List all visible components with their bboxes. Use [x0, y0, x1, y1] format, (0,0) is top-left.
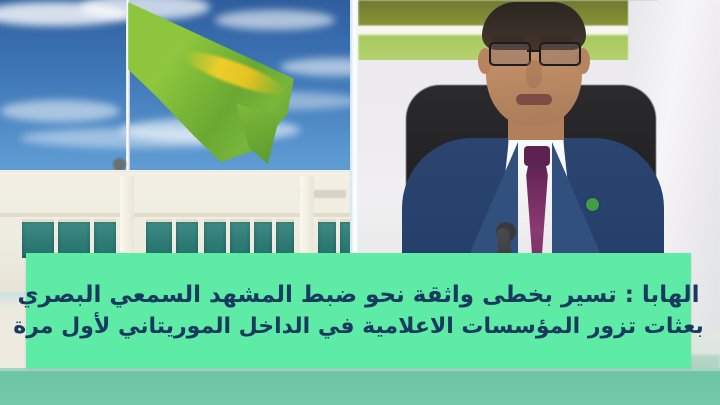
building-pilaster [120, 176, 134, 258]
eyeglass-lens-left [489, 42, 531, 66]
headline-line-1: الهابا : تسير بخطى واثقة نحو ضبط المشهد … [17, 280, 699, 310]
mouth [516, 94, 552, 105]
lapel-flag-pin [586, 198, 599, 211]
necktie-knot [524, 146, 550, 166]
headline-banner: الهابا : تسير بخطى واثقة نحو ضبط المشهد … [26, 253, 691, 368]
bottom-green-fill [0, 368, 720, 405]
eyeglasses [489, 42, 579, 62]
eyebrow-right [540, 36, 572, 41]
cloud-shape [280, 58, 354, 76]
nose [526, 60, 542, 88]
eyeglass-lens-right [539, 42, 581, 66]
cloud-shape [215, 10, 335, 30]
building-pilaster [300, 176, 314, 258]
eyebrow-left [492, 36, 524, 41]
news-graphic-canvas: الهابا : تسير بخطى واثقة نحو ضبط المشهد … [0, 0, 720, 405]
cloud-shape [0, 100, 120, 122]
headline-line-2: بعثات تزور المؤسسات الاعلامية في الداخل … [13, 312, 704, 341]
eyeglass-bridge [527, 50, 539, 52]
bottom-fill-edge-line [0, 368, 720, 371]
